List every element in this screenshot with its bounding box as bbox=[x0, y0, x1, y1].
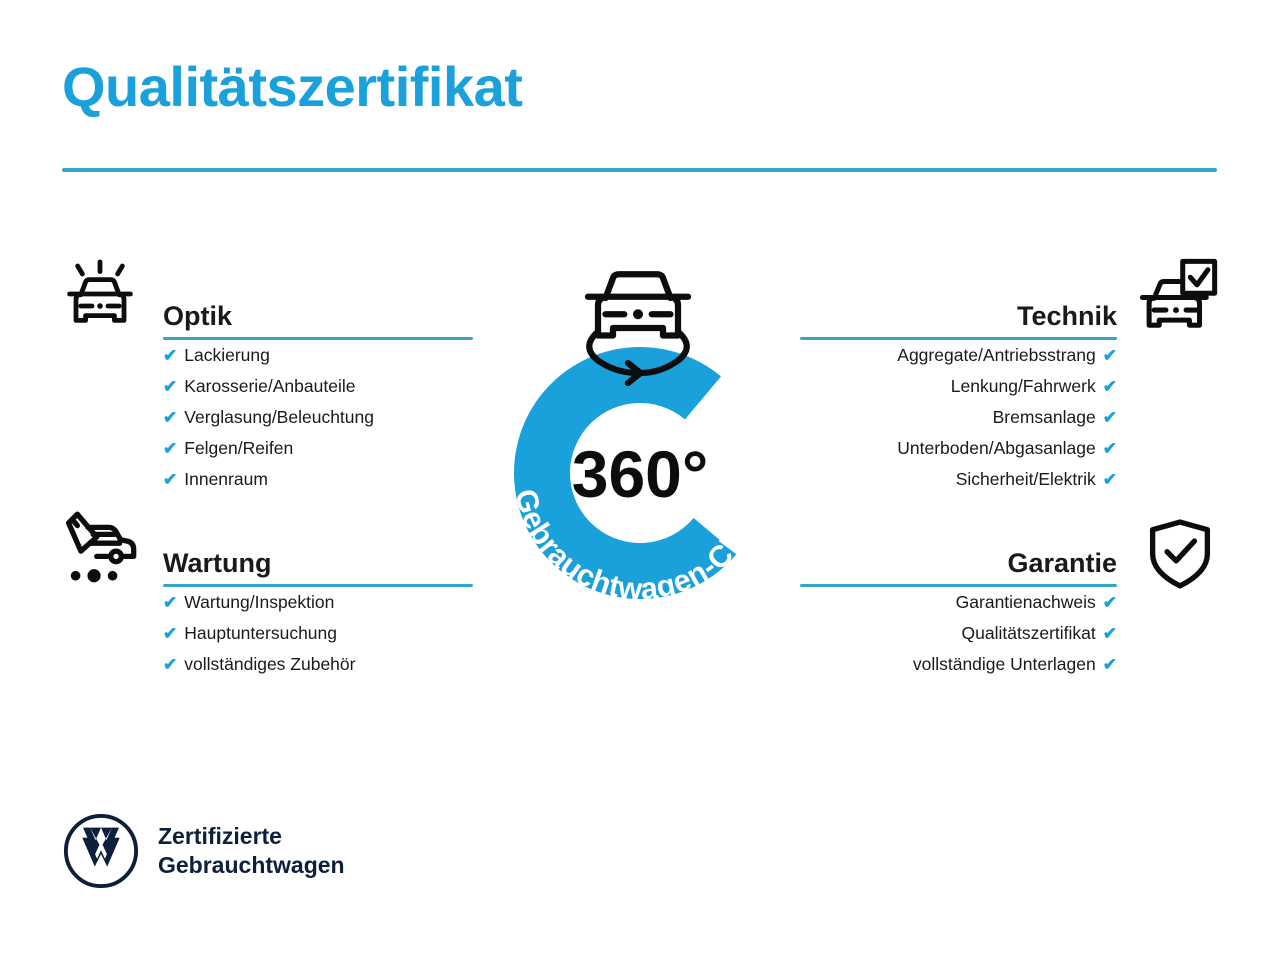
list-item-label: Lenkung/Fahrwerk bbox=[951, 376, 1096, 396]
list-item: ✔Lackierung bbox=[163, 340, 473, 371]
section-garantie-list: Garantienachweis✔ Qualitätszertifikat✔ v… bbox=[800, 587, 1117, 680]
check-icon: ✔ bbox=[163, 624, 177, 643]
list-item: ✔vollständiges Zubehör bbox=[163, 649, 473, 680]
list-item: Lenkung/Fahrwerk✔ bbox=[800, 371, 1117, 402]
footer-brand-text: Zertifizierte Gebrauchtwagen bbox=[158, 822, 345, 880]
list-item: ✔Verglasung/Beleuchtung bbox=[163, 402, 473, 433]
badge-360-check: 360° Gebrauchtwagen-Check bbox=[465, 245, 815, 635]
list-item: Bremsanlage✔ bbox=[800, 402, 1117, 433]
vw-logo bbox=[62, 812, 140, 890]
list-item: Unterboden/Abgasanlage✔ bbox=[800, 433, 1117, 464]
list-item: Qualitätszertifikat✔ bbox=[800, 618, 1117, 649]
section-optik: Optik ✔Lackierung ✔Karosserie/Anbauteile… bbox=[163, 296, 473, 495]
list-item-label: Wartung/Inspektion bbox=[184, 592, 334, 612]
car-service-pen-icon bbox=[58, 508, 138, 588]
car-shine-icon bbox=[60, 258, 140, 338]
section-optik-heading: Optik bbox=[163, 296, 473, 340]
check-icon: ✔ bbox=[163, 655, 177, 674]
list-item: Aggregate/Antriebsstrang✔ bbox=[800, 340, 1117, 371]
section-optik-underline bbox=[163, 337, 473, 340]
check-icon: ✔ bbox=[163, 377, 177, 396]
list-item-label: vollständiges Zubehör bbox=[184, 654, 355, 674]
list-item: ✔Felgen/Reifen bbox=[163, 433, 473, 464]
list-item-label: Sicherheit/Elektrik bbox=[956, 469, 1096, 489]
section-garantie-title: Garantie bbox=[800, 543, 1117, 583]
check-icon: ✔ bbox=[1103, 655, 1117, 674]
section-technik-underline bbox=[800, 337, 1117, 340]
list-item-label: Aggregate/Antriebsstrang bbox=[897, 345, 1095, 365]
list-item: ✔Innenraum bbox=[163, 464, 473, 495]
section-technik: Technik Aggregate/Antriebsstrang✔ Lenkun… bbox=[800, 296, 1117, 495]
check-icon: ✔ bbox=[1103, 439, 1117, 458]
section-wartung-heading: Wartung bbox=[163, 543, 473, 587]
list-item: Sicherheit/Elektrik✔ bbox=[800, 464, 1117, 495]
list-item: Garantienachweis✔ bbox=[800, 587, 1117, 618]
list-item-label: Garantienachweis bbox=[956, 592, 1096, 612]
section-wartung-title: Wartung bbox=[163, 543, 473, 583]
list-item: ✔Hauptuntersuchung bbox=[163, 618, 473, 649]
car-checkbox-icon bbox=[1134, 258, 1214, 338]
check-icon: ✔ bbox=[163, 346, 177, 365]
list-item-label: Qualitätszertifikat bbox=[962, 623, 1096, 643]
list-item-label: Felgen/Reifen bbox=[184, 438, 293, 458]
check-icon: ✔ bbox=[1103, 346, 1117, 365]
section-technik-list: Aggregate/Antriebsstrang✔ Lenkung/Fahrwe… bbox=[800, 340, 1117, 495]
list-item-label: Lackierung bbox=[184, 345, 270, 365]
check-icon: ✔ bbox=[1103, 470, 1117, 489]
list-item: vollständige Unterlagen✔ bbox=[800, 649, 1117, 680]
list-item-label: Bremsanlage bbox=[993, 407, 1096, 427]
section-garantie-underline bbox=[800, 584, 1117, 587]
list-item-label: vollständige Unterlagen bbox=[913, 654, 1096, 674]
list-item-label: Verglasung/Beleuchtung bbox=[184, 407, 374, 427]
list-item-label: Karosserie/Anbauteile bbox=[184, 376, 355, 396]
list-item: ✔Karosserie/Anbauteile bbox=[163, 371, 473, 402]
page-title: Qualitätszertifikat bbox=[62, 58, 522, 117]
section-optik-title: Optik bbox=[163, 296, 473, 336]
section-garantie-heading: Garantie bbox=[800, 543, 1117, 587]
check-icon: ✔ bbox=[163, 439, 177, 458]
check-icon: ✔ bbox=[163, 593, 177, 612]
section-wartung: Wartung ✔Wartung/Inspektion ✔Hauptunters… bbox=[163, 543, 473, 680]
list-item: ✔Wartung/Inspektion bbox=[163, 587, 473, 618]
list-item-label: Innenraum bbox=[184, 469, 268, 489]
section-technik-heading: Technik bbox=[800, 296, 1117, 340]
section-technik-title: Technik bbox=[800, 296, 1117, 336]
badge-center-label: 360° bbox=[572, 437, 709, 511]
list-item-label: Hauptuntersuchung bbox=[184, 623, 337, 643]
check-icon: ✔ bbox=[163, 408, 177, 427]
check-icon: ✔ bbox=[1103, 593, 1117, 612]
section-wartung-list: ✔Wartung/Inspektion ✔Hauptuntersuchung ✔… bbox=[163, 587, 473, 680]
section-wartung-underline bbox=[163, 584, 473, 587]
section-garantie: Garantie Garantienachweis✔ Qualitätszert… bbox=[800, 543, 1117, 680]
section-optik-list: ✔Lackierung ✔Karosserie/Anbauteile ✔Verg… bbox=[163, 340, 473, 495]
check-icon: ✔ bbox=[1103, 377, 1117, 396]
footer-brand: Zertifizierte Gebrauchtwagen bbox=[62, 812, 345, 890]
list-item-label: Unterboden/Abgasanlage bbox=[897, 438, 1096, 458]
shield-check-icon bbox=[1142, 516, 1222, 596]
check-icon: ✔ bbox=[1103, 624, 1117, 643]
header-divider bbox=[62, 168, 1217, 172]
quality-certificate-page: Qualitätszertifikat Optik ✔Lackierung ✔K… bbox=[0, 0, 1280, 960]
check-icon: ✔ bbox=[163, 470, 177, 489]
check-icon: ✔ bbox=[1103, 408, 1117, 427]
